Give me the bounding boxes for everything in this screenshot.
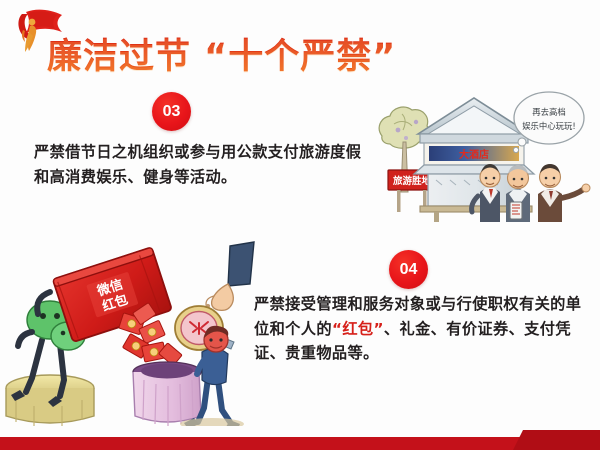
footer-band-accent xyxy=(513,430,600,450)
footer-red-band xyxy=(0,430,600,450)
poster-canvas: 廉洁过节 “十个严禁” 03 严禁借节日之机组织或参与用公款支付旅游度假和高消费… xyxy=(0,0,600,450)
footer-band-base xyxy=(0,437,600,450)
page-title: 廉洁过节 “十个严禁” xyxy=(47,28,396,79)
item-number-badge-04: 04 xyxy=(389,250,428,289)
item-number-badge-03: 03 xyxy=(152,92,191,131)
item-04-text: 严禁接受管理和服务对象或与行使职权有关的单位和个人的“红包”、礼金、有价证券、支… xyxy=(254,292,592,366)
item-04-highlight-hongbao: “红包” xyxy=(332,320,384,338)
money-sack-icon xyxy=(133,362,201,426)
resort-sign-label: 旅游胜地 xyxy=(393,175,432,187)
speech-bubble: 再去高档 娱乐中心玩玩! xyxy=(513,92,584,153)
cartoon-figure-3 xyxy=(538,164,590,222)
building-sign-label: 大酒店 xyxy=(459,148,489,161)
illustration-red-envelope-bribery: 微信 红包 xyxy=(2,240,264,426)
poster-header: 廉洁过节 “十个严禁” xyxy=(0,0,600,86)
badge-04-label: 04 xyxy=(400,261,418,279)
item-03-text: 严禁借节日之机组织或参与用公款支付旅游度假和高消费娱乐、健身等活动。 xyxy=(34,140,364,189)
badge-03-label: 03 xyxy=(163,103,181,121)
speech-bubble-line2: 娱乐中心玩玩! xyxy=(522,121,576,131)
illustration-public-funded-tourism: 旅游胜地 大酒店 再去高档 娱乐中心玩玩! xyxy=(372,84,598,224)
speech-bubble-line1: 再去高档 xyxy=(532,107,566,117)
cartoon-figure-2 xyxy=(506,165,530,222)
